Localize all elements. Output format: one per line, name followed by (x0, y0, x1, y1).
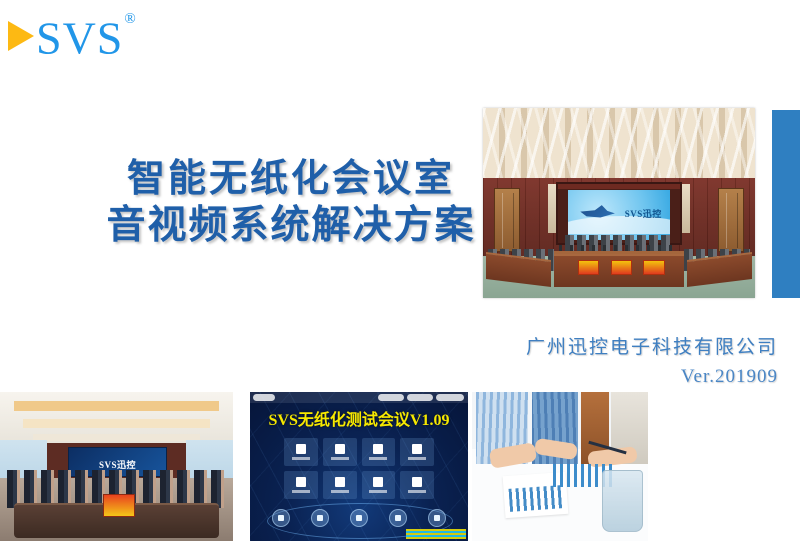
s2-menu-grid (284, 438, 434, 499)
svs-logo: SVS® (8, 12, 136, 60)
settings-icon (434, 515, 440, 521)
s2-menu-item-3[interactable] (362, 438, 396, 466)
s2-dock-item-3[interactable] (350, 509, 368, 527)
document-icon (412, 444, 422, 454)
s2-menu-label-8 (408, 490, 426, 493)
screen-svs-label: SVS迅控 (625, 207, 662, 220)
logo-wordmark-text: SVS (36, 13, 123, 64)
service-icon (356, 515, 362, 521)
s2-topbar-pill-2[interactable] (407, 394, 433, 401)
strip-image-team-discussion (472, 392, 648, 541)
s2-menu-item-7[interactable] (362, 471, 396, 499)
space-icon (317, 515, 323, 521)
strip-image-conference-room: SVS迅控 (0, 392, 233, 541)
s2-menu-item-6[interactable] (323, 471, 357, 499)
s1-ceiling-band-1 (14, 401, 219, 411)
page-title: 智能无纸化会议室 音视频系统解决方案 (96, 155, 486, 249)
s2-dock-item-4[interactable] (389, 509, 407, 527)
s2-topbar-pill-3[interactable] (436, 394, 464, 401)
version-label: Ver.201909 (681, 366, 778, 388)
camera-icon (373, 477, 383, 487)
clipboard-icon (296, 444, 306, 454)
s2-menu-label-2 (331, 457, 349, 460)
registered-trademark-icon: ® (124, 11, 136, 27)
folder-icon (296, 477, 306, 487)
s3-water-glass (602, 470, 643, 532)
s2-menu-item-5[interactable] (284, 471, 318, 499)
s2-topbar-pill-left[interactable] (253, 394, 275, 401)
screen-banner (558, 184, 679, 189)
s2-menu-label-5 (292, 490, 310, 493)
s2-dock-item-5[interactable] (428, 509, 446, 527)
slide-canvas: SVS® SVS迅控 (0, 0, 800, 541)
s1-display-device (103, 494, 135, 517)
strip-image-software-ui: SVS无纸化测试会议V1.09 (250, 392, 468, 541)
title-line-1: 智能无纸化会议室 (96, 155, 486, 202)
s2-ui-title: SVS无纸化测试会议V1.09 (250, 406, 468, 430)
s2-status-readout (406, 529, 466, 539)
s2-menu-label-7 (369, 490, 387, 493)
vote-icon (395, 515, 401, 521)
s2-menu-item-8[interactable] (400, 471, 434, 499)
agenda-icon (335, 444, 345, 454)
play-triangle-icon (8, 21, 34, 51)
s3-bar-chart (508, 485, 563, 512)
hero-conference-room-image: SVS迅控 (483, 108, 755, 298)
s2-menu-item-4[interactable] (400, 438, 434, 466)
desk-flag-1 (578, 260, 599, 275)
s2-menu-label-3 (369, 457, 387, 460)
screen-share-icon (373, 444, 383, 454)
logo-wordmark: SVS® (36, 10, 136, 61)
desk-flag-2 (611, 260, 632, 275)
s1-ceiling-band-2 (23, 419, 209, 428)
s2-menu-label-4 (408, 457, 426, 460)
s2-menu-item-1[interactable] (284, 438, 318, 466)
s2-menu-label-1 (292, 457, 310, 460)
s1-ceiling-band-3 (33, 434, 201, 441)
bottom-image-strip: SVS迅控 SVS无纸化测试会议V1.09 (0, 392, 800, 541)
wall-pillar-right (680, 184, 690, 233)
annotate-icon (335, 477, 345, 487)
s2-top-bar (250, 392, 468, 403)
company-name: 广州迅控电子科技有限公司 (526, 332, 778, 359)
led-screen: SVS迅控 (568, 190, 670, 240)
right-accent-bar (772, 110, 800, 298)
s2-menu-label-6 (331, 490, 349, 493)
door-left (494, 188, 520, 253)
ceiling-light-lines-2 (483, 108, 755, 180)
s2-menu-item-2[interactable] (323, 438, 357, 466)
s2-dock-bar (272, 509, 446, 527)
s2-topbar-pill-1[interactable] (378, 394, 404, 401)
title-line-2: 音视频系统解决方案 (96, 202, 486, 249)
person-icon (278, 515, 284, 521)
s2-dock-item-2[interactable] (311, 509, 329, 527)
desk-flag-3 (643, 260, 664, 275)
video-icon (412, 477, 422, 487)
s2-dock-item-1[interactable] (272, 509, 290, 527)
door-right (718, 188, 744, 253)
